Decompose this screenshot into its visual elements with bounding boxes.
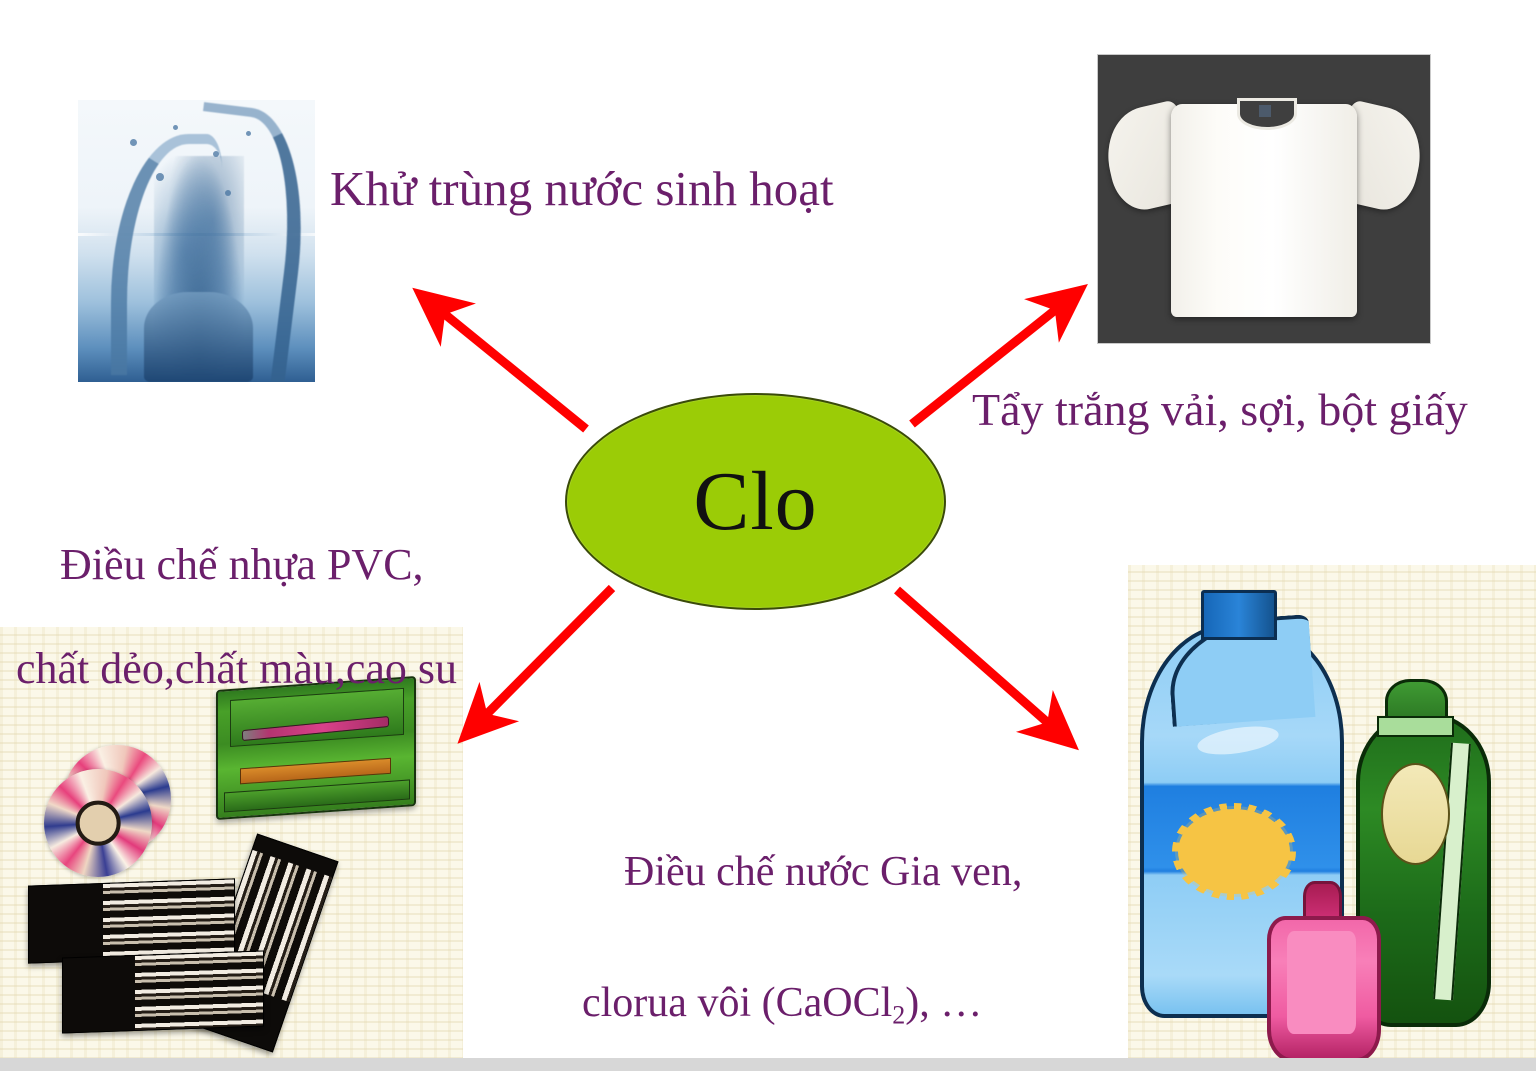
- water-droplet: [130, 139, 137, 146]
- arrow-to-water: [436, 307, 586, 429]
- water-jug-cap: [1201, 590, 1276, 640]
- disc-hub: [76, 801, 121, 846]
- label-pvc-line2: chất dẻo,chất màu,cao su: [16, 643, 457, 695]
- arrow-to-pvc: [479, 588, 612, 722]
- block-stripes: [103, 879, 234, 960]
- tshirt-neck-tag: [1259, 105, 1271, 117]
- center-node-label: Clo: [693, 460, 817, 544]
- pink-bottle-label: [1287, 931, 1356, 1035]
- label-javel-formula-pre: clorua vôi (CaOCl: [582, 980, 892, 1026]
- striped-block-lower: [62, 950, 264, 1033]
- water-splash-image: [78, 100, 315, 382]
- cleaning-bottles-image: [1128, 565, 1536, 1059]
- detergent-bottle-band: [1377, 716, 1454, 737]
- bottom-strip: [0, 1058, 1536, 1071]
- label-javel-formula-post: ), …: [905, 980, 982, 1026]
- striped-block-upper: [28, 878, 235, 963]
- center-node-clo[interactable]: Clo: [565, 393, 946, 610]
- water-droplet: [213, 151, 219, 157]
- arrow-to-javel: [897, 590, 1056, 730]
- sun-logo-icon: [1181, 812, 1287, 891]
- label-pvc-plastics: Điều chế nhựa PVC, chất dẻo,chất màu,cao…: [16, 487, 457, 798]
- water-droplet: [173, 125, 178, 130]
- label-javel-formula-subscript: 2: [892, 1000, 905, 1029]
- label-bleaching: Tẩy trắng vải, sợi, bột giấy: [972, 383, 1468, 437]
- slide-canvas: Clo Khử trùng nước sinh hoạt Tẩy trắng v…: [0, 0, 1536, 1071]
- label-javel-water: Điều chế nước Gia ven, clorua vôi (CaOCl…: [582, 798, 1022, 1071]
- label-javel-line2: clorua vôi (CaOCl2), …: [582, 979, 1022, 1031]
- water-crown: [144, 292, 253, 382]
- tshirt-body: [1171, 104, 1357, 317]
- block-stripes: [135, 952, 263, 1030]
- label-pvc-line1: Điều chế nhựa PVC,: [60, 540, 424, 589]
- detergent-bottle-label: [1381, 763, 1450, 866]
- label-water-disinfection: Khử trùng nước sinh hoạt: [330, 160, 834, 218]
- label-javel-line1: Điều chế nước Gia ven,: [624, 849, 1022, 895]
- white-tshirt-image: [1097, 54, 1431, 344]
